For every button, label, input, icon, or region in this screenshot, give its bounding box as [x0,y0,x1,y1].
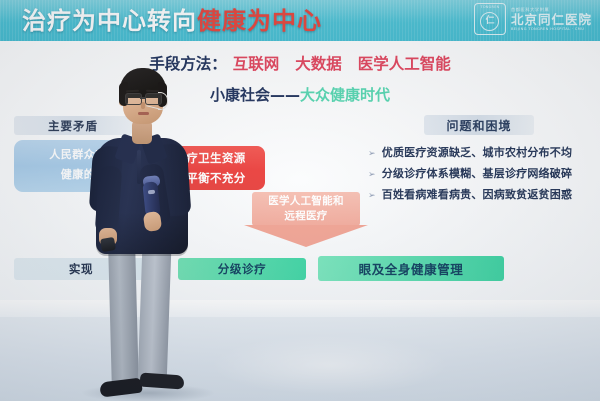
speaker-shoe-right [140,372,185,389]
speaker-glasses-lens-left [125,93,142,105]
method-item-1: 大数据 [295,55,342,73]
hospital-logo-wordmark: 首都医科大学附属 北京同仁医院 BEIJING TONGREN HOSPITAL… [511,7,592,32]
headset-mic-band-icon [158,92,168,110]
method-item-2: 医学人工智能 [358,55,451,73]
arrow-line-2: 远程医疗 [244,209,368,224]
method-item-0: 互联网 [233,55,280,73]
bullet-text: 优质医疗资源缺乏、城市农村分布不均 [382,143,572,163]
bullet-arrow-icon: ➢ [368,186,376,206]
slide-title-part-white: 治疗为中心转向 [22,7,197,35]
arrow-line-1: 医学人工智能和 [244,194,368,209]
arrow-tip-icon [244,225,368,247]
speaker-mouth [138,112,149,115]
bullet-text: 百姓看病难看病贵、因病致贫返贫困惑 [382,185,572,205]
bullet-arrow-icon: ➢ [368,144,376,164]
photo-frame: 治疗为中心转向健康为中心 TONGREN 仁 首都医科大学附属 北京同仁医院 B… [0,0,600,401]
speaker-person [88,62,208,401]
right-panel-header: 问题和困境 [424,115,534,135]
bottom-box-health-management: 眼及全身健康管理 [318,256,504,281]
list-item: ➢ 百姓看病难看病贵、因病致贫返贫困惑 [368,185,596,206]
presenter-remote [100,237,116,252]
speaker-glasses-bridge [140,97,145,99]
list-item: ➢ 优质医疗资源缺乏、城市农村分布不均 [368,143,596,164]
floor-light-glow [210,335,450,395]
logo-mark-top-text: TONGREN [475,5,505,9]
arrow-label: 医学人工智能和 远程医疗 [244,194,368,224]
problem-bullet-list: ➢ 优质医疗资源缺乏、城市农村分布不均 ➢ 分级诊疗体系模糊、基层诊疗网络破碎 … [368,143,596,206]
bullet-arrow-icon: ➢ [368,165,376,185]
logo-mark-glyph: 仁 [480,12,499,31]
logo-english-name: BEIJING TONGREN HOSPITAL · CMU [511,27,592,32]
speaker-leg-right [138,244,172,387]
slide-header-band: 治疗为中心转向健康为中心 TONGREN 仁 首都医科大学附属 北京同仁医院 B… [0,0,600,41]
list-item: ➢ 分级诊疗体系模糊、基层诊疗网络破碎 [368,164,596,185]
logo-hospital-name: 北京同仁医院 [511,13,592,27]
era-highlight: 大众健康时代 [300,86,390,104]
slide-title: 治疗为中心转向健康为中心 [22,6,322,36]
speaker-arm-left [95,165,123,234]
era-label: 小康社会—— [210,86,300,104]
slide-title-part-red: 健康为中心 [197,7,322,35]
bullet-text: 分级诊疗体系模糊、基层诊疗网络破碎 [382,164,572,184]
hospital-logo-mark-icon: TONGREN 仁 [474,3,506,35]
hospital-logo: TONGREN 仁 首都医科大学附属 北京同仁医院 BEIJING TONGRE… [474,3,592,35]
speaker-leg-left [108,244,139,390]
solution-arrow: 医学人工智能和 远程医疗 [244,192,368,248]
speaker-nose [141,102,145,109]
